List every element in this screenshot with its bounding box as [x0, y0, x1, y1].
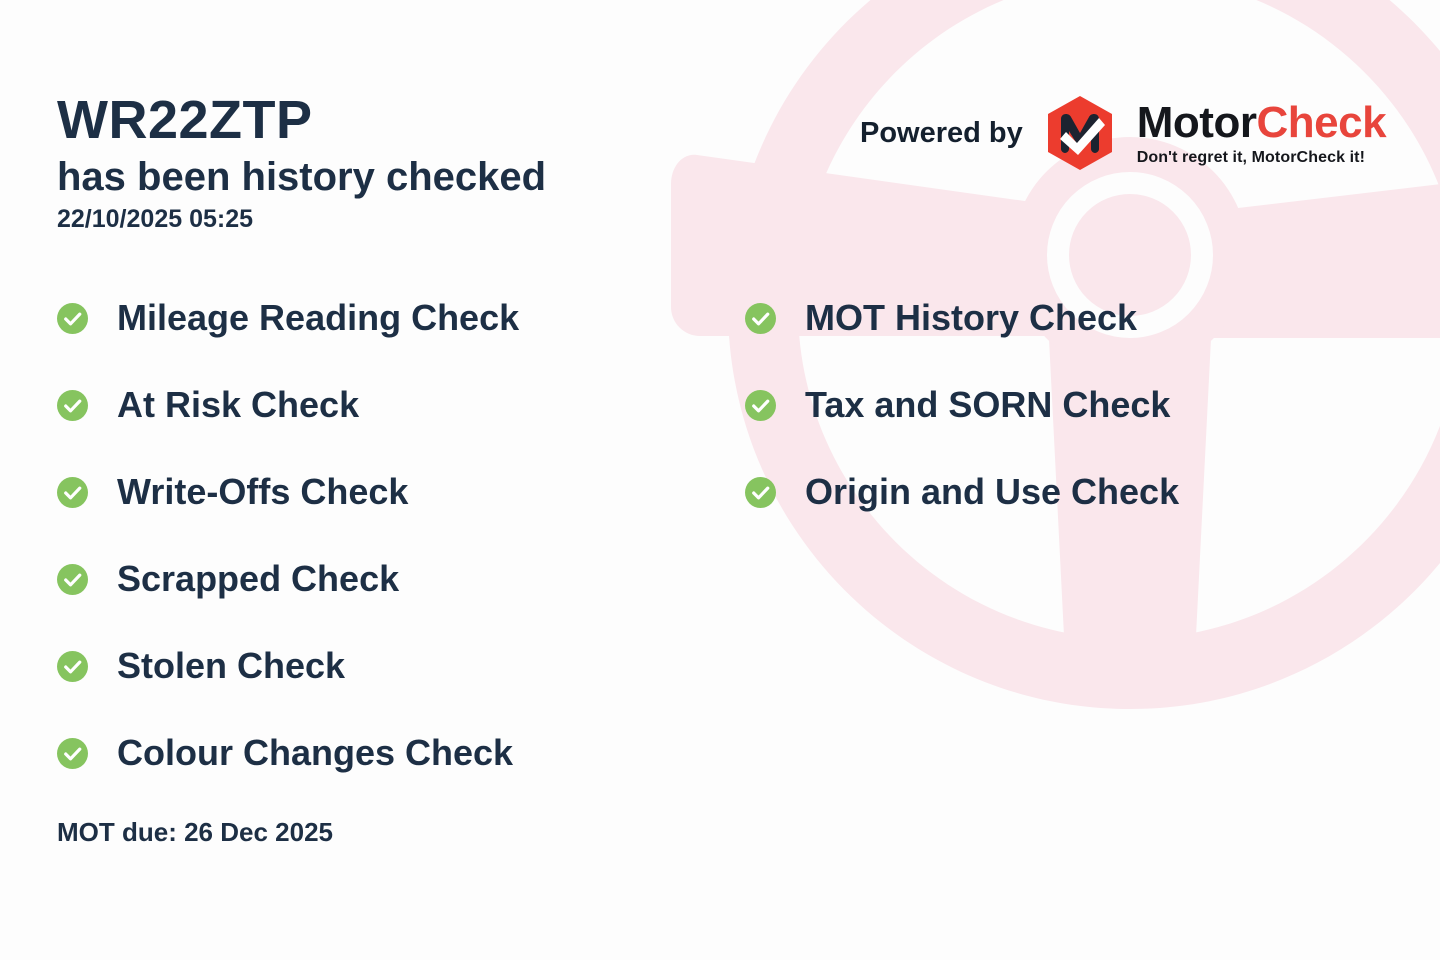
- check-item: MOT History Check: [745, 292, 1179, 344]
- header-block: WR22ZTP has been history checked 22/10/2…: [57, 92, 546, 234]
- check-item: Origin and Use Check: [745, 466, 1179, 518]
- check-item: At Risk Check: [57, 379, 519, 431]
- check-item-label: At Risk Check: [117, 387, 359, 423]
- powered-by-motorcheck-lockup: Powered by MotorCheck Don't regret it, M…: [860, 95, 1386, 171]
- history-check-banner: WR22ZTP has been history checked 22/10/2…: [0, 0, 1440, 960]
- green-check-circle-icon: [57, 738, 88, 769]
- green-check-circle-icon: [745, 477, 776, 508]
- green-check-circle-icon: [57, 303, 88, 334]
- check-item: Write-Offs Check: [57, 466, 519, 518]
- green-check-circle-icon: [57, 390, 88, 421]
- powered-by-label: Powered by: [860, 119, 1023, 148]
- check-item: Scrapped Check: [57, 553, 519, 605]
- check-timestamp: 22/10/2025 05:25: [57, 206, 546, 234]
- check-item-label: Write-Offs Check: [117, 474, 408, 510]
- motorcheck-wordmark-block: MotorCheck Don't regret it, MotorCheck i…: [1137, 101, 1386, 166]
- check-item-label: Colour Changes Check: [117, 735, 513, 771]
- check-item: Tax and SORN Check: [745, 379, 1179, 431]
- motorcheck-tagline: Don't regret it, MotorCheck it!: [1137, 150, 1386, 166]
- green-check-circle-icon: [57, 564, 88, 595]
- green-check-circle-icon: [57, 651, 88, 682]
- check-item-label: Origin and Use Check: [805, 474, 1179, 510]
- wordmark-check: Check: [1256, 98, 1386, 147]
- green-check-circle-icon: [745, 303, 776, 334]
- check-item: Colour Changes Check: [57, 727, 519, 779]
- check-item-label: Tax and SORN Check: [805, 387, 1170, 423]
- motorcheck-hexagon-logo: [1045, 95, 1115, 171]
- check-item-label: MOT History Check: [805, 300, 1137, 336]
- check-item: Mileage Reading Check: [57, 292, 519, 344]
- check-item: Stolen Check: [57, 640, 519, 692]
- wordmark-motor: Motor: [1137, 98, 1257, 147]
- registration-plate: WR22ZTP: [57, 92, 546, 149]
- check-item-label: Stolen Check: [117, 648, 345, 684]
- motorcheck-wordmark: MotorCheck: [1137, 101, 1386, 145]
- mot-due-text: MOT due: 26 Dec 2025: [57, 817, 333, 848]
- green-check-circle-icon: [745, 390, 776, 421]
- page-subtitle: has been history checked: [57, 155, 546, 200]
- checklist-right-column: MOT History Check Tax and SORN Check Ori…: [745, 292, 1179, 518]
- checklist-left-column: Mileage Reading Check At Risk Check Writ…: [57, 292, 519, 779]
- check-item-label: Mileage Reading Check: [117, 300, 519, 336]
- green-check-circle-icon: [57, 477, 88, 508]
- check-item-label: Scrapped Check: [117, 561, 399, 597]
